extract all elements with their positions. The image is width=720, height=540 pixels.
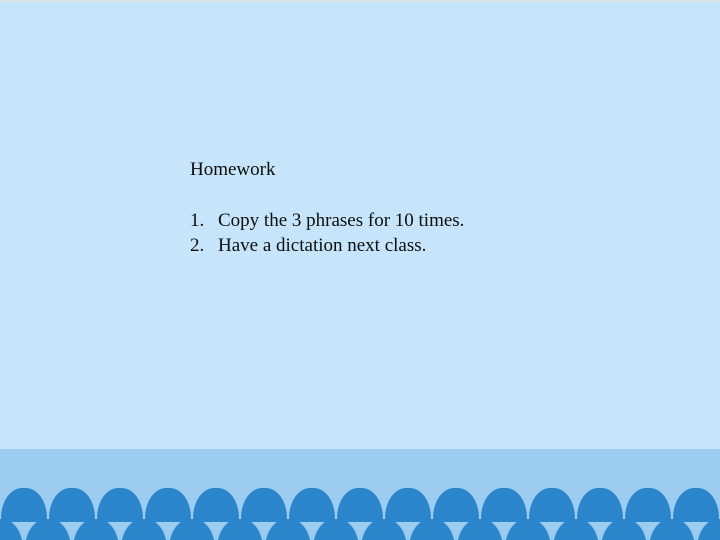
- dome-shape-icon: [408, 519, 456, 540]
- dome-shape-icon: [336, 488, 384, 522]
- list-item: 2. Have a dictation next class.: [190, 233, 610, 258]
- dome-shape-icon: [72, 519, 120, 540]
- dome-shape-icon: [0, 519, 24, 540]
- dome-shape-icon: [0, 488, 48, 522]
- dome-shape-icon: [600, 519, 648, 540]
- list-item: 1. Copy the 3 phrases for 10 times.: [190, 208, 610, 233]
- dome-shape-icon: [456, 519, 504, 540]
- list-item-label: Have a dictation next class.: [218, 233, 426, 258]
- dome-shape-icon: [120, 519, 168, 540]
- dome-shape-icon: [504, 519, 552, 540]
- slide: Homework 1. Copy the 3 phrases for 10 ti…: [0, 0, 720, 540]
- footer-decoration-band: [0, 449, 720, 540]
- dome-shape-icon: [168, 519, 216, 540]
- dome-row-top: [0, 488, 720, 522]
- dome-shape-icon: [528, 488, 576, 522]
- dome-shape-icon: [144, 488, 192, 522]
- dome-shape-icon: [288, 488, 336, 522]
- dome-shape-icon: [552, 519, 600, 540]
- dome-shape-icon: [624, 488, 672, 522]
- slide-content-block: Homework 1. Copy the 3 phrases for 10 ti…: [190, 158, 610, 258]
- list-item-marker: 2.: [190, 233, 218, 258]
- dome-shape-icon: [96, 488, 144, 522]
- dome-shape-icon: [432, 488, 480, 522]
- dome-shape-icon: [264, 519, 312, 540]
- dome-row-bottom: [0, 519, 720, 540]
- dome-shape-icon: [240, 488, 288, 522]
- homework-list: 1. Copy the 3 phrases for 10 times. 2. H…: [190, 208, 610, 258]
- list-item-marker: 1.: [190, 208, 218, 233]
- dome-shape-icon: [216, 519, 264, 540]
- dome-shape-icon: [360, 519, 408, 540]
- dome-shape-icon: [312, 519, 360, 540]
- dome-shape-icon: [384, 488, 432, 522]
- dome-shape-icon: [480, 488, 528, 522]
- dome-shape-icon: [192, 488, 240, 522]
- page-title: Homework: [190, 158, 610, 182]
- dome-shape-icon: [672, 488, 720, 522]
- list-item-label: Copy the 3 phrases for 10 times.: [218, 208, 464, 233]
- dome-shape-icon: [696, 519, 720, 540]
- dome-shape-icon: [648, 519, 696, 540]
- dome-shape-icon: [24, 519, 72, 540]
- dome-shape-icon: [576, 488, 624, 522]
- dome-shape-icon: [48, 488, 96, 522]
